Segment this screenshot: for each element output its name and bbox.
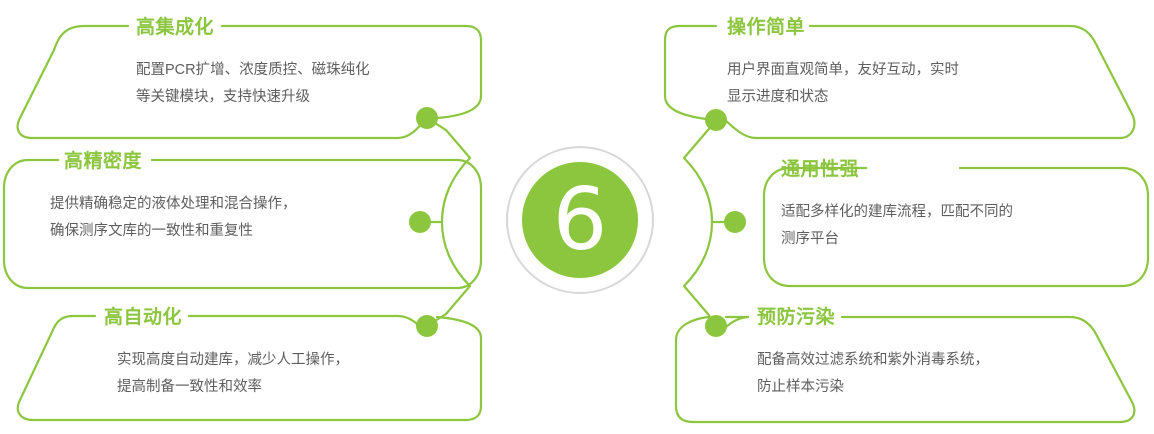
card-body-high-automation: 实现高度自动建库，减少人工操作， 提高制备一致性和效率	[117, 347, 349, 401]
infographic-canvas: 6 高集成化 配置PCR扩增、浓度质控、磁珠纯化 等关键模块，支持快速升级 操作…	[0, 0, 1154, 434]
node-middle-left	[409, 211, 431, 233]
card-title-high-automation: 高自动化	[104, 308, 182, 327]
center-bracket-right	[684, 130, 712, 314]
card-body-contamination-prevention: 配备高效过滤系统和紫外消毒系统， 防止样本污染	[757, 347, 989, 401]
node-middle-right	[724, 211, 746, 233]
card-body-simple-operation: 用户界面直观简单，友好互动，实时 显示进度和状态	[727, 57, 959, 111]
center-number: 6	[508, 148, 652, 292]
card-outline-simple-operation-left	[665, 26, 716, 96]
node-bottom-left	[416, 315, 438, 337]
card-body-high-precision: 提供精确稳定的液体处理和混合操作， 确保测序文库的一致性和重复性	[50, 191, 297, 245]
card-body-strong-versatility: 适配多样化的建库流程，匹配不同的 测序平台	[781, 199, 1013, 253]
card-outline-simple-operation-swoop	[665, 96, 706, 119]
card-title-high-integration: 高集成化	[136, 18, 214, 37]
card-body-high-integration: 配置PCR扩增、浓度质控、磁珠纯化 等关键模块，支持快速升级	[136, 57, 370, 111]
card-outline-simple-operation-bottom-join	[725, 120, 756, 138]
card-outline-contamination-prevention-swoop	[676, 317, 708, 340]
card-title-simple-operation: 操作简单	[727, 18, 805, 37]
card-title-high-precision: 高精密度	[64, 152, 142, 171]
node-top-left	[416, 107, 438, 129]
node-top-right	[705, 109, 727, 131]
card-outline-high-automation-swoop	[437, 317, 481, 338]
card-outline-high-automation-right	[189, 316, 427, 334]
node-bottom-right	[705, 315, 727, 337]
card-outline-high-integration-swoop	[437, 96, 481, 118]
card-title-strong-versatility: 通用性强	[781, 160, 859, 179]
card-title-contamination-prevention: 预防污染	[757, 308, 835, 327]
